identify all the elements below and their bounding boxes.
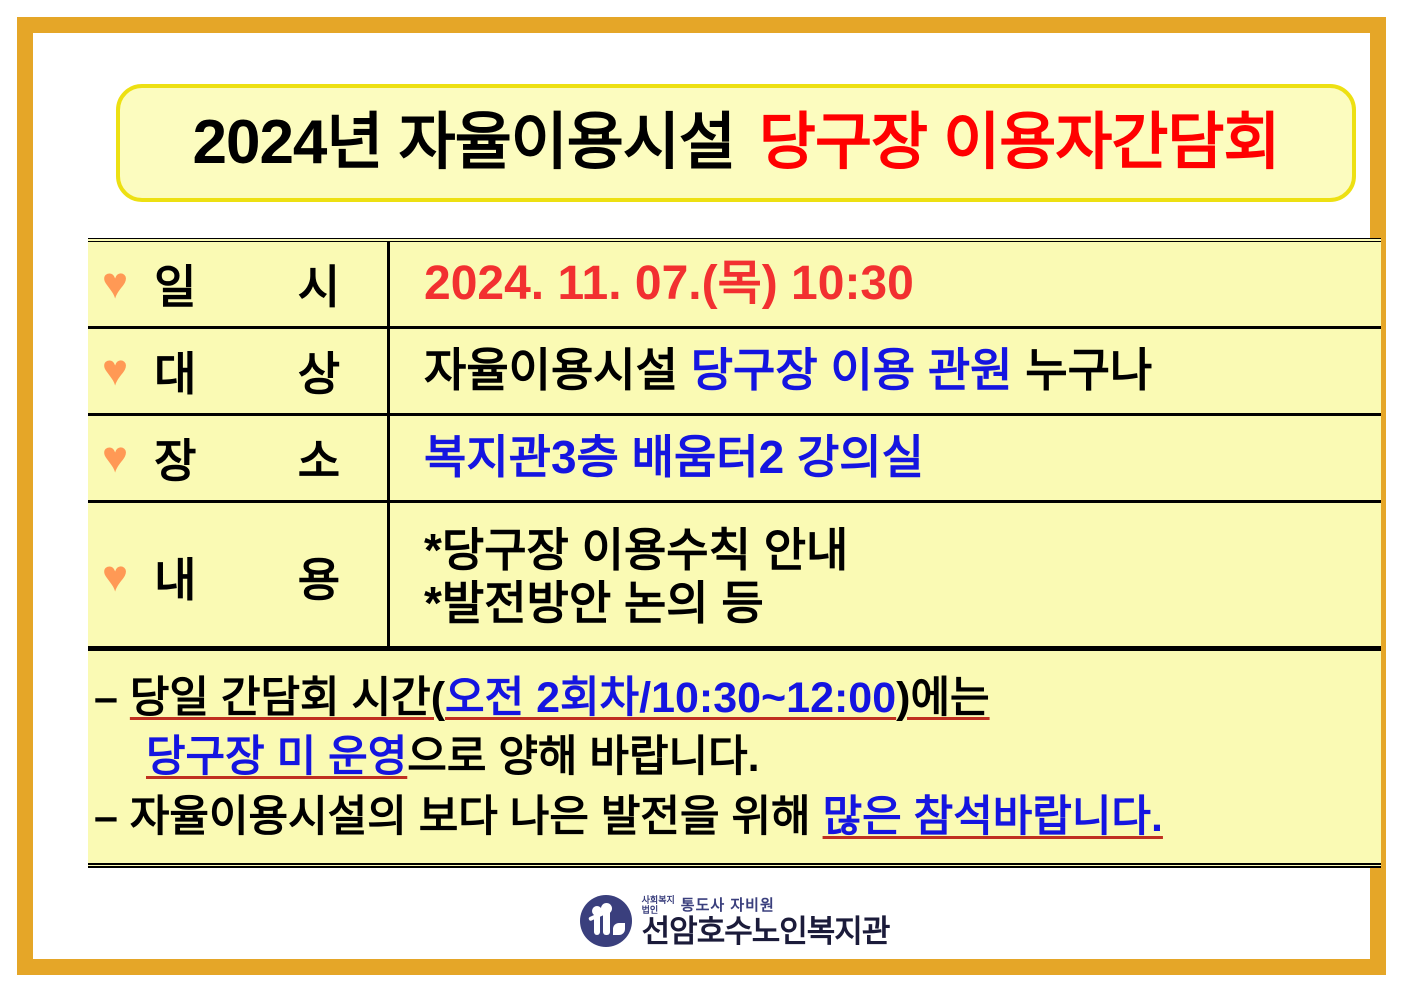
heart-icon: ♥: [102, 262, 128, 306]
value-segment: 2024. 11. 07.(목) 10:30: [424, 257, 914, 310]
table-row: ♥일시2024. 11. 07.(목) 10:30: [88, 242, 1381, 329]
table-row: ♥대상자율이용시설 당구장 이용 관원 누구나: [88, 329, 1381, 416]
note-line: – 당일 간담회 시간(오전 2회차/10:30~12:00)에는: [94, 669, 1381, 728]
label-char-last: 소: [298, 425, 340, 491]
table-row-value-cell: *당구장 이용수칙 안내*발전방안 논의 등: [390, 503, 1381, 651]
table-row: ♥내용*당구장 이용수칙 안내*발전방안 논의 등: [88, 503, 1381, 651]
logo-organization-name: 선암호수노인복지관: [642, 916, 890, 949]
note-segment: 으로 양해 바랍니다.: [407, 733, 759, 781]
poster-title: 2024년 자율이용시설 당구장 이용자간담회: [116, 84, 1356, 202]
table-row-label-cell: ♥일시: [88, 242, 390, 326]
note-segment: 많은 참석바랍니다.: [823, 793, 1163, 841]
table-value-line: *발전방안 논의 등: [424, 577, 1381, 630]
table-row-label-cell: ♥내용: [88, 503, 390, 651]
title-red-part: 당구장 이용자간담회: [759, 112, 1280, 174]
value-segment: 당구장 이용 관원: [691, 344, 1013, 396]
heart-icon: ♥: [102, 555, 128, 599]
table-row-label: 내용: [154, 544, 340, 610]
label-char-first: 내: [154, 544, 196, 610]
label-char-first: 장: [154, 425, 196, 491]
table-row-value-cell: 복지관3층 배움터2 강의실: [390, 416, 1381, 500]
logo-corporation-prefix: 사회복지 법인: [642, 896, 675, 915]
label-char-last: 용: [298, 544, 340, 610]
value-segment: *당구장 이용수칙 안내: [424, 524, 848, 576]
note-segment: –: [94, 674, 130, 722]
table-row-label-cell: ♥대상: [88, 329, 390, 413]
decorative-frame: 2024년 자율이용시설 당구장 이용자간담회 ♥일시2024. 11. 07.…: [17, 17, 1386, 975]
table-value-line: 복지관3층 배움터2 강의실: [424, 431, 1381, 484]
label-char-last: 상: [298, 338, 340, 404]
footer-logo: 사회복지 법인 통도사 자비원 선암호수노인복지관: [88, 893, 1381, 949]
logo-upper-line: 사회복지 법인 통도사 자비원: [642, 893, 890, 915]
heart-icon: ♥: [102, 436, 128, 480]
notes-block: – 당일 간담회 시간(오전 2회차/10:30~12:00)에는당구장 미 운…: [88, 646, 1381, 868]
note-segment: )에는: [896, 674, 989, 722]
table-value-line: 2024. 11. 07.(목) 10:30: [424, 256, 1381, 312]
note-segment: 오전 2회차/10:30~12:00: [445, 674, 896, 722]
heart-icon: ♥: [102, 349, 128, 393]
note-line: 당구장 미 운영으로 양해 바랍니다.: [94, 728, 1381, 787]
label-char-first: 일: [154, 251, 196, 317]
table-row-label: 대상: [154, 338, 340, 404]
note-line: – 자율이용시설의 보다 나은 발전을 위해 많은 참석바랍니다.: [94, 788, 1381, 847]
table-row-label-cell: ♥장소: [88, 416, 390, 500]
organization-logo-icon: [580, 895, 632, 947]
note-segment: – 자율이용시설의 보다 나은 발전을 위해: [94, 793, 823, 841]
note-segment: 당일 간담회 시간(: [130, 674, 445, 722]
table-row: ♥장소복지관3층 배움터2 강의실: [88, 416, 1381, 503]
value-segment: 자율이용시설: [424, 344, 691, 396]
table-row-value-cell: 2024. 11. 07.(목) 10:30: [390, 242, 1381, 326]
table-row-value-cell: 자율이용시설 당구장 이용 관원 누구나: [390, 329, 1381, 413]
logo-text-group: 사회복지 법인 통도사 자비원 선암호수노인복지관: [642, 893, 890, 949]
logo-foundation-name: 통도사 자비원: [681, 894, 775, 915]
table-row-label: 장소: [154, 425, 340, 491]
label-char-last: 시: [298, 251, 340, 317]
info-table: ♥일시2024. 11. 07.(목) 10:30♥대상자율이용시설 당구장 이…: [88, 238, 1381, 651]
label-char-first: 대: [154, 338, 196, 404]
poster-content: 2024년 자율이용시설 당구장 이용자간담회 ♥일시2024. 11. 07.…: [88, 78, 1381, 978]
table-value-line: 자율이용시설 당구장 이용 관원 누구나: [424, 344, 1381, 397]
value-segment: *발전방안 논의 등: [424, 577, 764, 629]
poster: 2024년 자율이용시설 당구장 이용자간담회 ♥일시2024. 11. 07.…: [0, 0, 1403, 992]
value-segment: 복지관3층 배움터2 강의실: [424, 431, 924, 483]
value-segment: 누구나: [1013, 344, 1153, 396]
table-row-label: 일시: [154, 251, 340, 317]
note-segment: 당구장 미 운영: [146, 733, 407, 781]
title-black-part: 2024년 자율이용시설: [192, 112, 734, 174]
table-value-line: *당구장 이용수칙 안내: [424, 524, 1381, 577]
